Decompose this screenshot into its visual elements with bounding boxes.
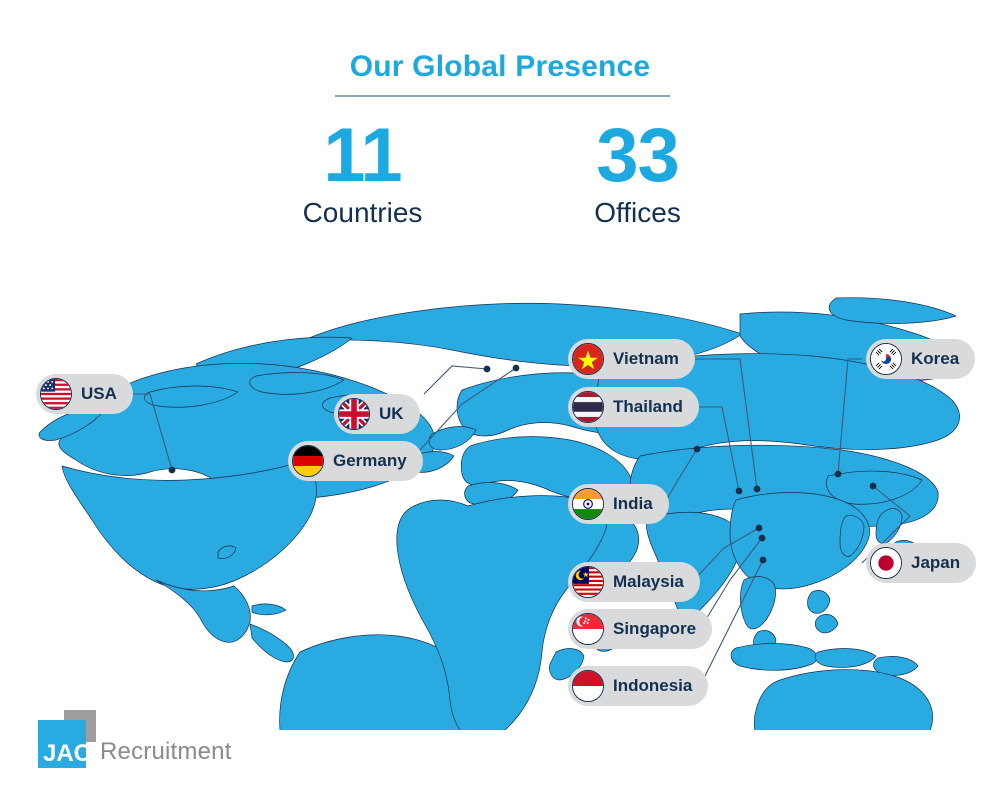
map-label-thailand[interactable]: Thailand <box>568 387 699 427</box>
city-dot-japan <box>870 483 877 490</box>
stat-offices-number: 33 <box>553 120 723 193</box>
stat-countries: 11 Countries <box>278 120 448 229</box>
flag-thailand-icon <box>572 391 604 423</box>
city-dot-usa <box>169 467 176 474</box>
city-dot-vietnam <box>754 486 761 493</box>
title-divider <box>335 95 670 97</box>
city-dot-singapore <box>759 535 766 542</box>
world-map <box>0 280 1000 730</box>
city-dot-thailand <box>736 488 743 495</box>
jac-recruitment-logo: JAC Recruitment <box>38 710 232 768</box>
flag-malaysia-icon <box>572 566 604 598</box>
infographic-canvas: Our Global Presence 11 Countries 33 Offi… <box>0 0 1000 800</box>
flag-indonesia-icon <box>572 670 604 702</box>
map-label-singapore[interactable]: Singapore <box>568 609 712 649</box>
map-label-singapore-text: Singapore <box>613 619 696 639</box>
map-label-korea[interactable]: Korea <box>866 339 975 379</box>
map-label-vietnam[interactable]: Vietnam <box>568 339 695 379</box>
city-dot-germany <box>513 365 520 372</box>
map-label-malaysia-text: Malaysia <box>613 572 684 592</box>
map-label-indonesia[interactable]: Indonesia <box>568 666 708 706</box>
stat-offices-label: Offices <box>553 197 723 229</box>
flag-singapore-icon <box>572 613 604 645</box>
city-dot-malaysia <box>756 525 763 532</box>
page-title: Our Global Presence <box>0 50 1000 84</box>
logo-brand-text: JAC <box>43 740 91 768</box>
logo-mark-icon: JAC <box>38 710 96 768</box>
map-label-malaysia[interactable]: Malaysia <box>568 562 700 602</box>
city-dot-india <box>694 446 701 453</box>
logo-word-text: Recruitment <box>100 738 232 766</box>
flag-korea-icon <box>870 343 902 375</box>
stats-row: 11 Countries 33 Offices <box>0 120 1000 229</box>
flag-india-icon <box>572 488 604 520</box>
map-label-india-text: India <box>613 494 653 514</box>
map-label-thailand-text: Thailand <box>613 397 683 417</box>
map-label-uk-text: UK <box>379 404 404 424</box>
flag-usa-icon <box>40 378 72 410</box>
map-label-uk[interactable]: UK <box>334 394 420 434</box>
city-dot-uk <box>484 366 491 373</box>
map-label-india[interactable]: India <box>568 484 669 524</box>
map-label-vietnam-text: Vietnam <box>613 349 679 369</box>
stat-countries-number: 11 <box>278 120 448 193</box>
map-label-germany-text: Germany <box>333 451 407 471</box>
city-dot-indonesia <box>760 557 767 564</box>
flag-uk-icon <box>338 398 370 430</box>
stat-offices: 33 Offices <box>553 120 723 229</box>
flag-japan-icon <box>870 547 902 579</box>
stat-countries-label: Countries <box>278 197 448 229</box>
map-landmasses <box>39 298 968 730</box>
city-dot-korea <box>835 471 842 478</box>
map-label-japan-text: Japan <box>911 553 960 573</box>
map-label-indonesia-text: Indonesia <box>613 676 692 696</box>
map-label-usa-text: USA <box>81 384 117 404</box>
map-label-korea-text: Korea <box>911 349 959 369</box>
flag-germany-icon <box>292 445 324 477</box>
map-label-usa[interactable]: USA <box>36 374 133 414</box>
map-label-japan[interactable]: Japan <box>866 543 976 583</box>
flag-vietnam-icon <box>572 343 604 375</box>
map-label-germany[interactable]: Germany <box>288 441 423 481</box>
